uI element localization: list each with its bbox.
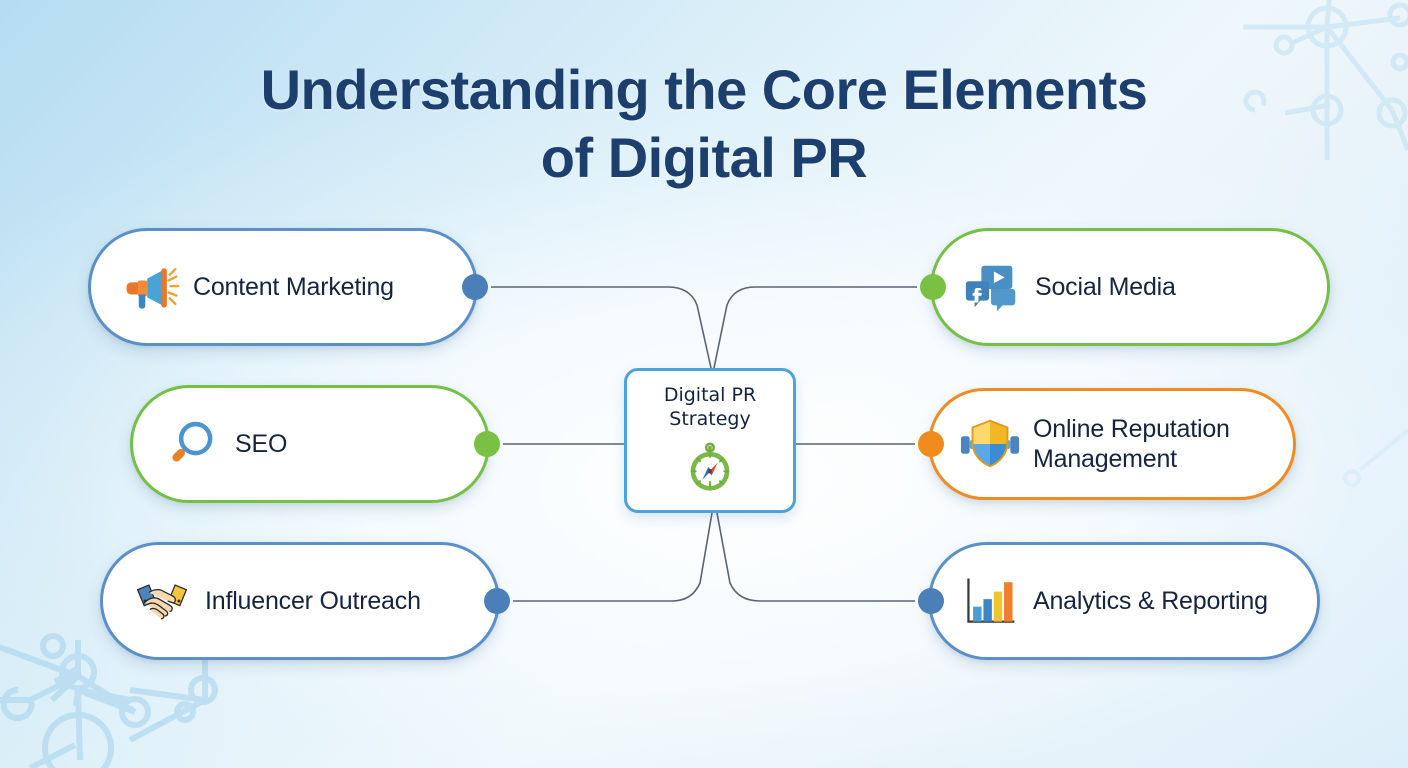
link-analytics xyxy=(717,513,915,601)
branch-card-social-media[interactable]: Social Media xyxy=(930,228,1330,346)
branch-card-seo[interactable]: SEO xyxy=(130,385,490,503)
compass-icon xyxy=(683,440,737,494)
connector-dot-online-reputation-management xyxy=(918,431,944,457)
branch-card-content-marketing[interactable]: Content Marketing xyxy=(88,228,478,346)
shield-icon xyxy=(957,411,1023,477)
social-bubbles-icon xyxy=(959,254,1025,320)
center-node-digital-pr-strategy[interactable]: Digital PR Strategy xyxy=(624,368,796,513)
diagram-canvas: Understanding the Core Elements of Digit… xyxy=(0,0,1408,768)
orm-label-line-2: Management xyxy=(1033,445,1177,473)
megaphone-icon xyxy=(117,254,183,320)
connector-dot-content-marketing xyxy=(462,274,488,300)
branch-label-seo: SEO xyxy=(235,429,287,460)
center-label-line-1: Digital PR xyxy=(664,384,756,406)
branch-label-social-media: Social Media xyxy=(1035,272,1176,303)
link-social-media xyxy=(714,287,917,368)
handshake-icon xyxy=(129,568,195,634)
branch-card-online-reputation-management[interactable]: Online Reputation Management xyxy=(928,388,1296,500)
link-influencer xyxy=(513,513,712,601)
branch-card-analytics-reporting[interactable]: Analytics & Reporting xyxy=(928,542,1320,660)
branch-label-influencer-outreach: Influencer Outreach xyxy=(205,586,421,617)
center-label-line-2: Strategy xyxy=(669,408,750,430)
orm-label-line-1: Online Reputation xyxy=(1033,415,1230,443)
connector-dot-seo xyxy=(474,431,500,457)
center-node-label: Digital PR Strategy xyxy=(664,383,756,432)
branch-card-influencer-outreach[interactable]: Influencer Outreach xyxy=(100,542,500,660)
branch-label-analytics-reporting: Analytics & Reporting xyxy=(1033,586,1268,617)
link-content-marketing xyxy=(491,287,711,368)
branch-label-online-reputation-management: Online Reputation Management xyxy=(1033,414,1230,475)
connector-dot-analytics-reporting xyxy=(918,588,944,614)
magnifying-glass-icon xyxy=(159,411,225,477)
bar-chart-icon xyxy=(957,568,1023,634)
connector-dot-influencer-outreach xyxy=(484,588,510,614)
connector-dot-social-media xyxy=(920,274,946,300)
branch-label-content-marketing: Content Marketing xyxy=(193,272,394,303)
